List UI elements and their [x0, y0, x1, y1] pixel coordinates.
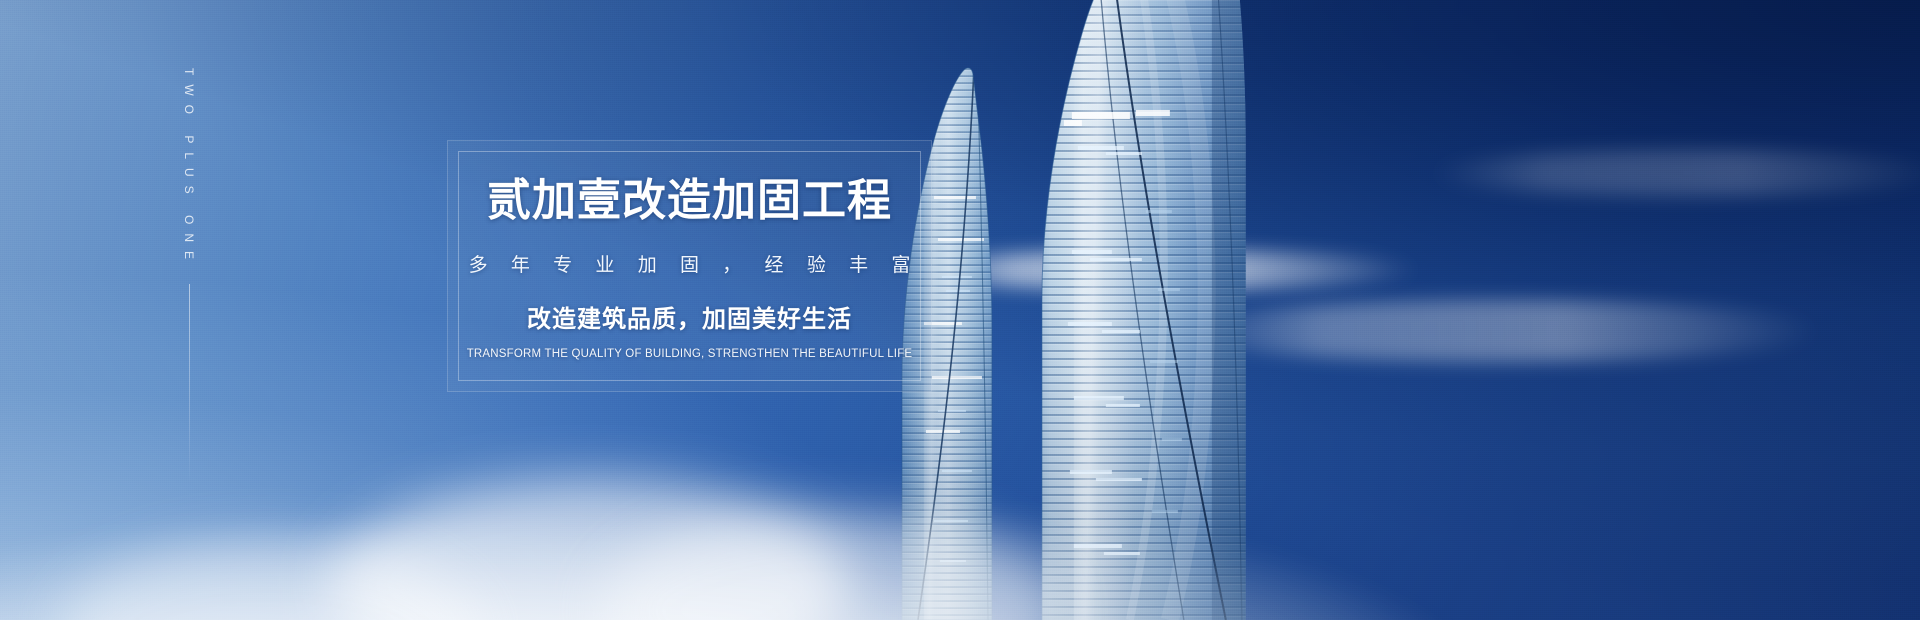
subtitle-text: 多 年 专 业 加 固 ， 经 验 丰 富	[460, 250, 920, 277]
slogan-text: 改造建筑品质，加固美好生活	[527, 299, 852, 334]
headline-panel-content: 贰加壹改造加固工程 多 年 专 业 加 固 ， 经 验 丰 富 改造建筑品质，加…	[447, 140, 932, 392]
english-tagline: TRANSFORM THE QUALITY OF BUILDING, STREN…	[467, 348, 913, 360]
page-title: 贰加壹改造加固工程	[487, 178, 892, 225]
vertical-brand: TWO PLUS ONE	[183, 68, 195, 484]
hero-banner: TWO PLUS ONE 贰加壹改造加固工程 多 年 专 业 加 固 ， 经 验…	[0, 0, 1920, 620]
vertical-brand-label: TWO PLUS ONE	[183, 68, 195, 268]
vertical-divider-line	[189, 284, 190, 484]
